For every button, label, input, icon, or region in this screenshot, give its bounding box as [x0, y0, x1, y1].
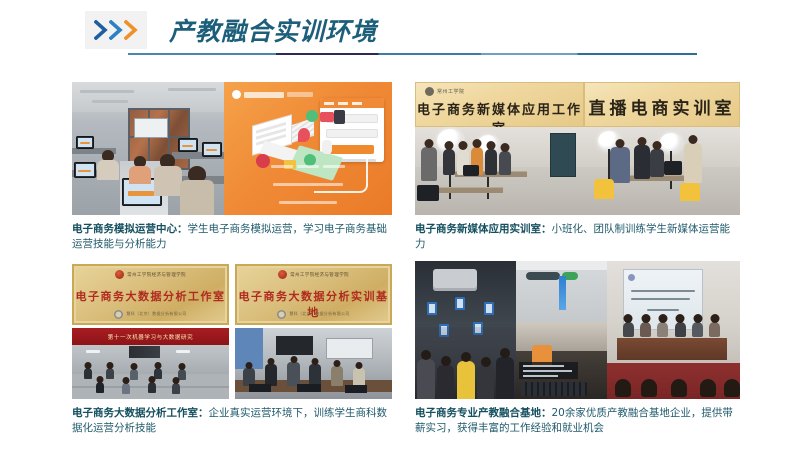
- plaque-emblem-icon-2: [278, 270, 287, 279]
- livestream-operation-photo: [516, 261, 607, 322]
- livestream-lab-sign: 直播电商实训室: [584, 82, 740, 127]
- chevron-right-blue-icon: [109, 20, 123, 40]
- ecommerce-platform-screenshot: [224, 82, 392, 215]
- lecture-hall-photo: 第十一次机器学习与大数据研究: [72, 328, 229, 399]
- university-emblem-icon: [425, 87, 434, 96]
- livestream-desk-photo: [516, 322, 607, 399]
- page-title: 产教融合实训环境: [169, 12, 377, 48]
- plaque-org-2: 常州工学院经济与管理学院: [290, 272, 349, 278]
- figure-image-new-media-lab: 常州工学院 电子商务新媒体应用工作室: [415, 82, 740, 215]
- chevron-right-dark-blue-icon: [94, 20, 108, 40]
- sign-university-name-1: 常州工学院: [437, 88, 465, 95]
- plaque-seal-icon-2: [277, 310, 286, 319]
- sign-title-2: 直播电商实训室: [584, 94, 740, 119]
- livestream-lab-photo: 直播电商实训室: [584, 82, 740, 215]
- plaque-sponsor-1: 慧科（北京）数据分析有限公司: [126, 311, 186, 317]
- laptop-classroom-photo: [235, 328, 392, 399]
- new-media-studio-sign: 常州工学院 电子商务新媒体应用工作室: [415, 82, 584, 127]
- platform-logo: [232, 90, 313, 99]
- figure-block-sim-operations-center: 电子商务模拟运营中心：学生电子商务模拟运营，学习电子商务基础运营技能与分析能力: [72, 82, 392, 252]
- plaque-sponsor-2: 慧科（北京）数据分析有限公司: [289, 311, 349, 317]
- company-workspace-photo: [415, 261, 516, 399]
- figure-caption-new-media-lab: 电子商务新媒体应用实训室：小班化、团队制训练学生新媒体运营能力: [415, 222, 740, 252]
- conference-hall-photo: [607, 261, 740, 399]
- figure-image-big-data-studio: 常州工学院经济与管理学院 电子商务大数据分析工作室 慧科（北京）数据分析有限公司…: [72, 264, 392, 399]
- figure-block-industry-education-base: 电子商务专业产教融合基地：20余家优质产教融合基地企业，提供带薪实习，获得丰富的…: [415, 261, 740, 436]
- chevron-right-orange-icon: [124, 20, 138, 40]
- new-media-studio-photo: 常州工学院 电子商务新媒体应用工作室: [415, 82, 584, 215]
- figure-image-industry-education-base: [415, 261, 740, 399]
- caption-lead-2: 电子商务新媒体应用实训室：: [415, 223, 552, 235]
- caption-lead-3: 电子商务大数据分析工作室：: [72, 407, 209, 419]
- figure-caption-big-data-studio: 电子商务大数据分析工作室：企业真实运营环境下，训练学生商科数据化运营分析技能: [72, 406, 392, 436]
- plaque-emblem-icon: [115, 270, 124, 279]
- plaque-seal-icon: [114, 310, 123, 319]
- chevron-icon-group: [85, 11, 147, 49]
- slide-root: 产教融合实训环境: [0, 0, 799, 459]
- caption-lead-1: 电子商务模拟运营中心：: [72, 223, 188, 235]
- figure-caption-industry-education-base: 电子商务专业产教融合基地：20余家优质产教融合基地企业，提供带薪实习，获得丰富的…: [415, 406, 740, 436]
- lecture-banner-text: 第十一次机器学习与大数据研究: [72, 333, 229, 341]
- big-data-studio-plaque: 常州工学院经济与管理学院 电子商务大数据分析工作室 慧科（北京）数据分析有限公司: [72, 264, 229, 325]
- conference-logo-icon: [628, 274, 635, 281]
- slide-header: 产教融合实训环境: [85, 11, 377, 49]
- plaque-org-1: 常州工学院经济与管理学院: [127, 272, 186, 278]
- figure-caption-sim-operations-center: 电子商务模拟运营中心：学生电子商务模拟运营，学习电子商务基础运营技能与分析能力: [72, 222, 392, 252]
- computer-lab-photo: [72, 82, 224, 215]
- caption-lead-4: 电子商务专业产教融合基地：: [415, 407, 552, 419]
- big-data-training-base-plaque: 常州工学院经济与管理学院 电子商务大数据分析实训基地 慧科（北京）数据分析有限公…: [235, 264, 392, 325]
- figure-image-sim-operations-center: [72, 82, 392, 215]
- plaque-title-1: 电子商务大数据分析工作室: [72, 288, 229, 304]
- figure-block-new-media-lab: 常州工学院 电子商务新媒体应用工作室: [415, 82, 740, 252]
- figure-block-big-data-studio: 常州工学院经济与管理学院 电子商务大数据分析工作室 慧科（北京）数据分析有限公司…: [72, 264, 392, 436]
- title-divider: [128, 53, 697, 55]
